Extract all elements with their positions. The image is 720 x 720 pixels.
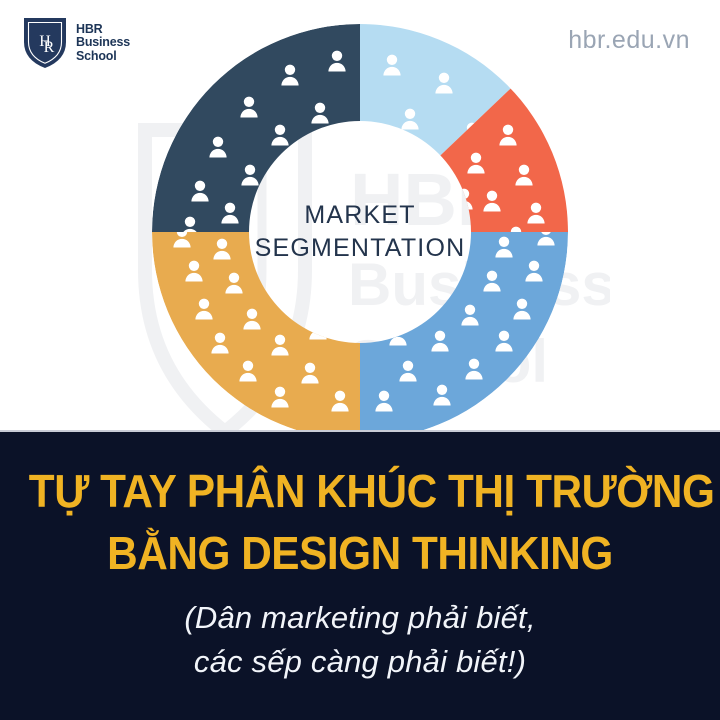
donut-segment-5 [152,232,360,430]
market-segmentation-donut-chart: MARKET SEGMENTATION [152,24,568,430]
graphic-area: HBR Business School [0,0,720,430]
logo-line-3: School [76,50,130,64]
subtitle-line-2: các sếp càng phải biết!) [0,644,720,680]
donut-segment-1 [152,24,360,232]
poster-canvas: HBR Business School [0,0,720,720]
subtitle-line-1: (Dân marketing phải biết, [0,600,720,636]
site-url[interactable]: hbr.edu.vn [568,26,690,55]
brand-logo-text: HBR Business School [76,23,130,64]
logo-line-2: Business [76,36,130,50]
brand-logo[interactable]: H R HBR Business School [22,16,130,70]
headline-line-1: TỰ TAY PHÂN KHÚC THỊ TRƯỜNG [29,464,691,518]
svg-text:R: R [44,39,55,56]
headline-line-2: BẰNG DESIGN THINKING [29,526,691,580]
headline-band: TỰ TAY PHÂN KHÚC THỊ TRƯỜNG BẰNG DESIGN … [0,430,720,720]
logo-line-1: HBR [76,23,130,37]
hbr-shield-icon: H R [22,16,68,70]
